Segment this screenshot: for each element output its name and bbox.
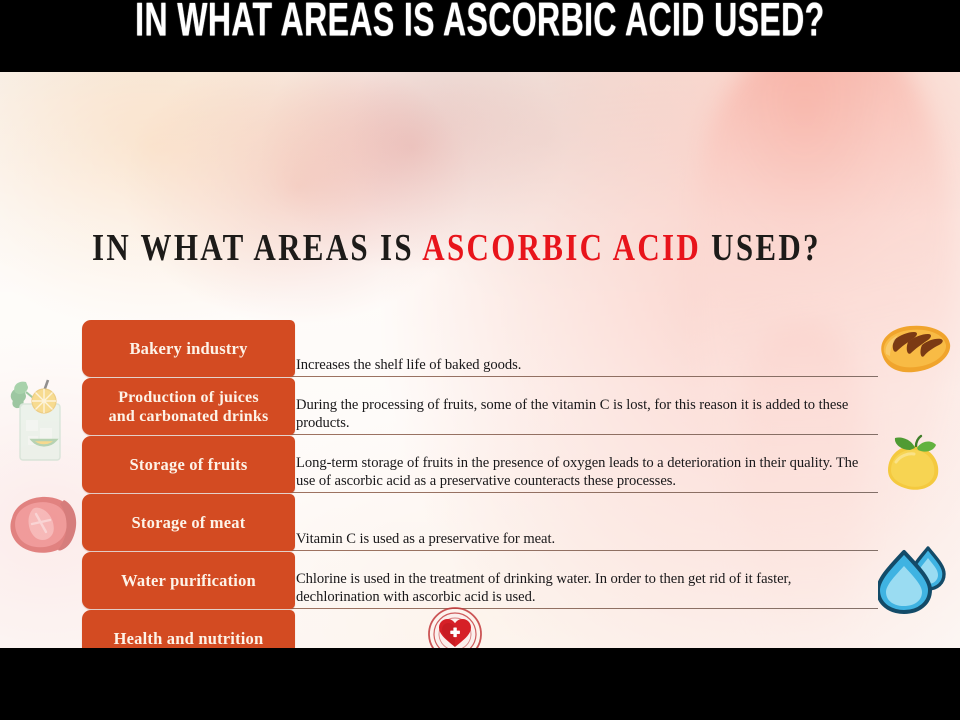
area-desc-wrap: Vitamin C is used as a preservative for … xyxy=(288,494,878,551)
slide-canvas: IN WHAT AREAS IS ASCORBIC ACID USED? Bak… xyxy=(0,72,960,648)
area-description-storage-of-meat: Vitamin C is used as a preservative for … xyxy=(296,531,874,549)
area-desc-wrap: Increases the shelf life of baked goods. xyxy=(288,320,878,377)
list-item: Storage of fruits Long-term storage of f… xyxy=(82,436,878,493)
area-desc-wrap: Long-term storage of fruits in the prese… xyxy=(288,436,878,493)
area-description-water-purification: Chlorine is used in the treatment of dri… xyxy=(296,571,874,606)
list-item: Bakery industry Increases the shelf life… xyxy=(82,320,878,377)
drink-icon xyxy=(4,374,76,466)
list-item: Production of juices and carbonated drin… xyxy=(82,378,878,435)
area-label-health-and-nutrition[interactable]: Health and nutrition xyxy=(82,610,295,648)
area-desc-wrap: During the processing of fruits, some of… xyxy=(288,378,878,435)
list-item: Water purification Chlorine is used in t… xyxy=(82,552,878,609)
area-description-storage-of-fruits: Long-term storage of fruits in the prese… xyxy=(296,455,874,490)
area-desc-wrap: Chlorine is used in the treatment of dri… xyxy=(288,552,878,609)
area-label-storage-of-fruits[interactable]: Storage of fruits xyxy=(82,436,295,493)
area-description-health-and-nutrition: What about without health? We need this … xyxy=(296,647,874,649)
water-drop-icon xyxy=(878,542,950,614)
lemon-icon xyxy=(882,432,946,496)
area-label-storage-of-meat[interactable]: Storage of meat xyxy=(82,494,295,551)
video-title-banner: IN WHAT AREAS IS ASCORBIC ACID USED? xyxy=(0,0,960,72)
area-description-bakery-industry: Increases the shelf life of baked goods. xyxy=(296,357,874,375)
meat-icon xyxy=(2,488,80,558)
area-label-production-of-juices[interactable]: Production of juices and carbonated drin… xyxy=(82,378,295,435)
areas-list: Bakery industry Increases the shelf life… xyxy=(0,72,960,648)
area-description-production-of-juices: During the processing of fruits, some of… xyxy=(296,397,874,432)
health-heart-stamp-icon xyxy=(427,606,483,648)
bottom-letterbox-bar xyxy=(0,648,960,720)
area-desc-wrap: What about without health? We need this … xyxy=(288,610,878,648)
video-title-text: IN WHAT AREAS IS ASCORBIC ACID USED? xyxy=(135,0,824,46)
bread-icon xyxy=(874,320,954,378)
list-item: Storage of meat Vitamin C is used as a p… xyxy=(82,494,878,551)
slide-screenshot: IN WHAT AREAS IS ASCORBIC ACID USED? IN … xyxy=(0,0,960,720)
area-label-bakery-industry[interactable]: Bakery industry xyxy=(82,320,295,377)
area-label-water-purification[interactable]: Water purification xyxy=(82,552,295,609)
